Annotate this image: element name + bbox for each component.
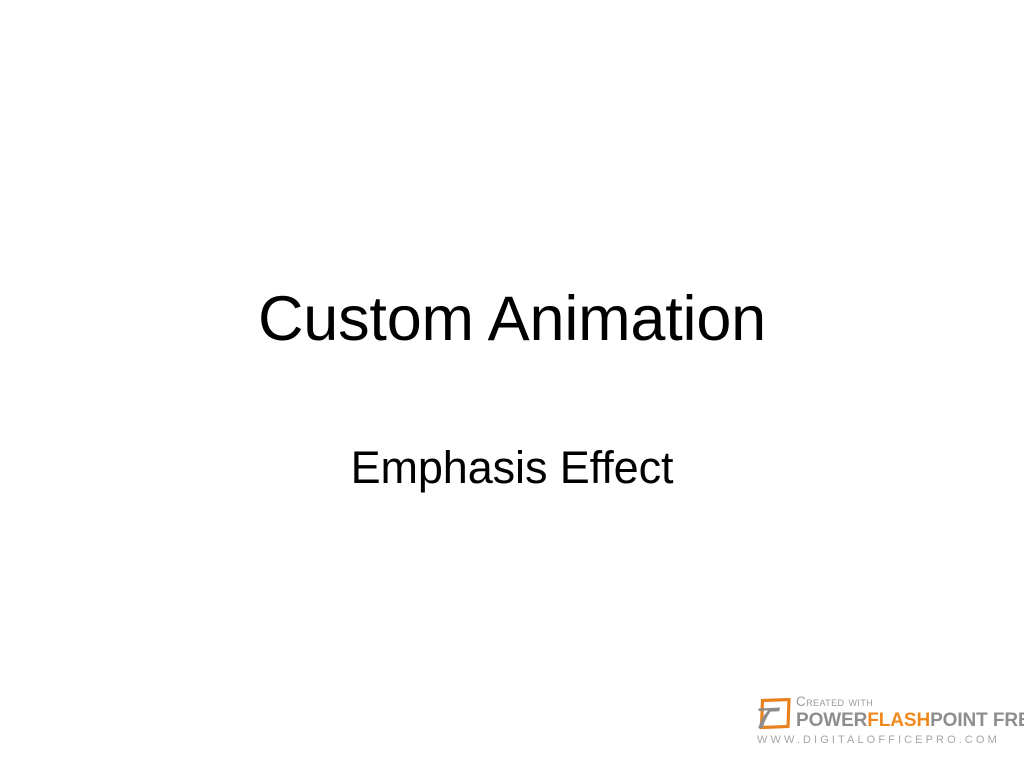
watermark: Created with POWERFLASHPOINT FREE WWW.DI…: [755, 694, 1015, 756]
slide-subtitle: Emphasis Effect: [0, 444, 1024, 491]
brand-part-point-free: POINT FREE: [930, 710, 1024, 731]
watermark-text-block: Created with POWERFLASHPOINT FREE: [796, 694, 1016, 731]
watermark-created-with-label: Created with: [796, 694, 1016, 709]
watermark-url: WWW.DIGITALOFFICEPRO.COM: [757, 734, 1000, 747]
slide-title: Custom Animation: [0, 286, 1024, 352]
brand-part-power: POWER: [796, 710, 867, 731]
watermark-brand-name: POWERFLASHPOINT FREE: [796, 710, 1016, 731]
powerflashpoint-logo-icon: [758, 698, 792, 730]
presentation-slide: Custom Animation Emphasis Effect Created…: [0, 0, 1024, 768]
brand-part-flash: FLASH: [867, 710, 930, 731]
